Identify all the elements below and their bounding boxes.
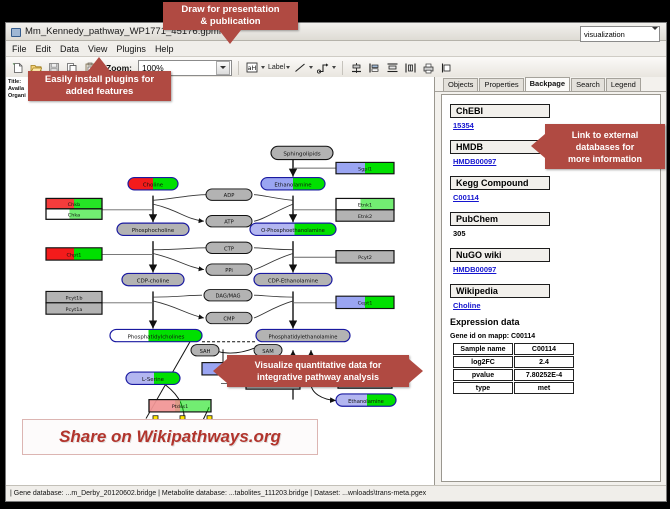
node-label: Ethanolamine [348,399,384,405]
row-value: 2.4 [514,356,574,368]
expression-table: Sample name C00114 log2FC 2.4 pvalue 7.8… [452,342,575,395]
node-sphingolipids[interactable]: Sphingolipids [271,146,333,159]
row-label: Sample name [453,343,513,355]
node-ethanolamine-bottom[interactable]: Ethanolamine [336,394,396,406]
nugo-wiki-header: NuGO wiki [450,248,550,262]
node-label: O-Phosphoethanolamine [261,228,325,234]
menubar: File Edit Data View Plugins Help [6,41,666,57]
node-label: ATP [224,220,233,226]
node-label: Phosphatidylethanolamine [269,335,338,341]
node-pcyt1a[interactable]: Pcyt1a [46,303,102,314]
node-adp[interactable]: ADP [206,189,252,200]
statusbar: | Gene database: ...m_Derby_20120602.bri… [6,485,666,501]
side-panel-tabs: Objects Properties Backpage Search Legen… [435,77,666,92]
node-dag-mag[interactable]: DAG/MAG [204,290,252,301]
node-label: ADP [224,193,235,199]
menu-edit[interactable]: Edit [36,44,52,54]
callout-share-text: Share on Wikipathways.org [59,427,281,447]
row-label: type [453,382,513,394]
pubchem-value: 305 [453,229,654,238]
svg-text:aH: aH [248,64,257,72]
node-label: Etnk1 [358,203,372,209]
callout-plugins-line1: Easily install plugins for [45,74,154,86]
node-phosphatidylcholines[interactable]: Phosphatidylcholines [110,329,202,341]
callout-share: Share on Wikipathways.org [22,419,318,455]
visualization-dropdown-arrow[interactable] [652,30,658,39]
node-label: SAH [200,349,211,355]
table-row: Sample name C00114 [453,343,574,355]
callout-link-line1: Link to external [572,129,639,141]
menu-data[interactable]: Data [60,44,79,54]
node-choline-top[interactable]: Choline [128,178,178,190]
node-cdp-ethanolamine[interactable]: CDP-Ethanolamine [254,273,332,285]
align-left-icon[interactable] [367,60,382,75]
node-label: CMP [223,317,234,323]
node-etnk1[interactable]: Etnk1 [336,198,394,209]
callout-plugins-line2: added features [66,86,134,98]
node-phosphocholine[interactable]: Phosphocholine [117,223,189,235]
wikipedia-link[interactable]: Choline [453,301,654,310]
toolbar-separator [342,61,343,75]
row-value: C00114 [514,343,574,355]
node-sah[interactable]: SAH [191,345,219,356]
node-label: Chka [68,213,81,219]
node-cdp-choline[interactable]: CDP-choline [122,273,184,285]
node-sgpl1[interactable]: Sgpl1 [336,162,394,173]
screenshot-root: Mm_Kennedy_pathway_WP1771_45176.gpml Fil… [0,0,670,509]
callout-visualize-arrow-right-icon [409,359,423,383]
distribute-horizontal-icon[interactable] [403,60,418,75]
tab-objects[interactable]: Objects [443,78,478,91]
tab-backpage[interactable]: Backpage [525,77,570,91]
callout-link-arrow-icon [531,134,545,158]
node-label: Cept1 [358,301,373,307]
node-label: Pcyt1a [66,307,83,313]
chevron-down-icon[interactable] [286,66,290,69]
pathvisio-app-icon [10,26,21,37]
node-pcyt2[interactable]: Pcyt2 [336,251,394,263]
nugo-wiki-link[interactable]: HMDB00097 [453,265,654,274]
callout-plugins: Easily install plugins for added feature… [28,71,171,101]
align-center-icon[interactable] [349,60,364,75]
tab-search[interactable]: Search [571,78,605,91]
toolbar-separator [238,61,239,75]
node-label: PPi [225,268,233,274]
node-o-phosphoethanolamine[interactable]: O-Phosphoethanolamine [250,223,336,235]
callout-draw: Draw for presentation & publication [163,2,298,30]
node-label: Choline [143,183,163,189]
node-l-serine-left[interactable]: L-Serine [126,372,180,384]
callout-visualize: Visualize quantitative data for integrat… [227,355,409,387]
tab-legend[interactable]: Legend [606,78,641,91]
line-icon[interactable] [293,60,308,75]
label-tool-label: Label [268,64,285,71]
node-label: Etnk2 [358,214,372,220]
node-label: DAG/MAG [215,294,240,300]
connector-icon[interactable] [316,60,331,75]
wikipedia-header: Wikipedia [450,284,550,298]
new-file-icon[interactable] [10,60,25,75]
distribute-vertical-icon[interactable] [385,60,400,75]
kegg-link[interactable]: C00114 [453,193,654,202]
node-ctp[interactable]: CTP [206,242,252,253]
table-row: log2FC 2.4 [453,356,574,368]
node-label: Phosphocholine [132,228,174,234]
node-ethanolamine-top[interactable]: Ethanolamine [261,178,325,190]
kegg-header: Kegg Compound [450,176,550,190]
menu-file[interactable]: File [12,44,27,54]
table-row: type met [453,382,574,394]
cofactor-nodes: ADP ATP CTP PPi [204,189,252,324]
callout-draw-line1: Draw for presentation [181,4,279,16]
callout-external-links: Link to external databases for more info… [545,124,665,169]
node-label: Pcyt1b [66,296,83,302]
callout-draw-line2: & publication [200,16,260,28]
row-label: log2FC [453,356,513,368]
node-phosphatidylethanolamine[interactable]: Phosphatidylethanolamine [256,329,350,341]
node-atp[interactable]: ATP [206,216,252,227]
node-label: CDP-choline [137,279,169,285]
node-cept1[interactable]: Cept1 [336,296,394,308]
node-label: Sgpl1 [358,167,372,173]
menu-view[interactable]: View [88,44,107,54]
expression-data-title: Expression data [450,317,654,327]
node-label: Phosphatidylcholines [128,335,185,341]
page-icon[interactable] [439,60,454,75]
node-label: Pcyt2 [358,255,372,261]
callout-visualize-line2: integrative pathway analysis [257,371,379,383]
callout-draw-arrow-icon [219,30,241,44]
callout-link-line2: databases for [576,141,635,153]
node-label: Ethanolamine [274,183,311,189]
text-format-tool[interactable]: aH [245,60,265,75]
node-etnk2[interactable]: Etnk2 [336,210,394,221]
zoom-dropdown-arrow[interactable] [216,61,230,75]
callout-plugins-arrow-icon [88,57,110,71]
callout-visualize-arrow-left-icon [213,359,227,383]
gene-id-line: Gene id on mapp: C00114 [450,333,654,340]
row-value: met [514,382,574,394]
menu-help[interactable]: Help [155,44,174,54]
node-label: SAM [262,349,273,355]
chevron-down-icon[interactable] [309,66,313,69]
connector-tool[interactable] [316,60,336,75]
row-value: 7.80252E-4 [514,369,574,381]
node-label: Ptdss1 [172,404,188,410]
node-label: CDP-Ethanolamine [268,279,318,285]
chevron-down-icon[interactable] [332,66,336,69]
label-tool[interactable]: Label [268,64,290,71]
row-label: pvalue [453,369,513,381]
visualization-combobox[interactable]: visualization [580,26,660,42]
node-label: Chkb [68,202,81,208]
chebi-header: ChEBI [450,104,550,118]
node-chpt1[interactable]: Chpt1 [46,248,102,260]
node-ppi[interactable]: PPi [206,264,252,275]
node-label: L-Serine [142,377,164,383]
node-chkb[interactable]: Chkb [46,198,102,208]
chevron-down-icon[interactable] [261,66,265,69]
node-pcyt1b[interactable]: Pcyt1b [46,291,102,302]
callout-visualize-line1: Visualize quantitative data for [255,359,382,371]
callout-link-line3: more information [568,153,642,165]
table-row: pvalue 7.80252E-4 [453,369,574,381]
node-cmp[interactable]: CMP [206,312,252,323]
node-chka[interactable]: Chka [46,209,102,219]
print-icon[interactable] [421,60,436,75]
node-label: Chpt1 [67,252,82,258]
node-ptdss1[interactable]: Ptdss1 [149,400,211,412]
node-label: Sphingolipids [283,152,320,158]
node-label: CTP [224,246,234,252]
visualization-value: visualization [584,30,625,39]
pubchem-header: PubChem [450,212,550,226]
tab-properties[interactable]: Properties [479,78,523,91]
line-tool[interactable] [293,60,313,75]
text-format-icon[interactable]: aH [245,60,260,75]
menu-plugins[interactable]: Plugins [116,44,146,54]
statusbar-text: | Gene database: ...m_Derby_20120602.bri… [6,490,426,497]
window-titlebar: Mm_Kennedy_pathway_WP1771_45176.gpml [6,23,666,41]
